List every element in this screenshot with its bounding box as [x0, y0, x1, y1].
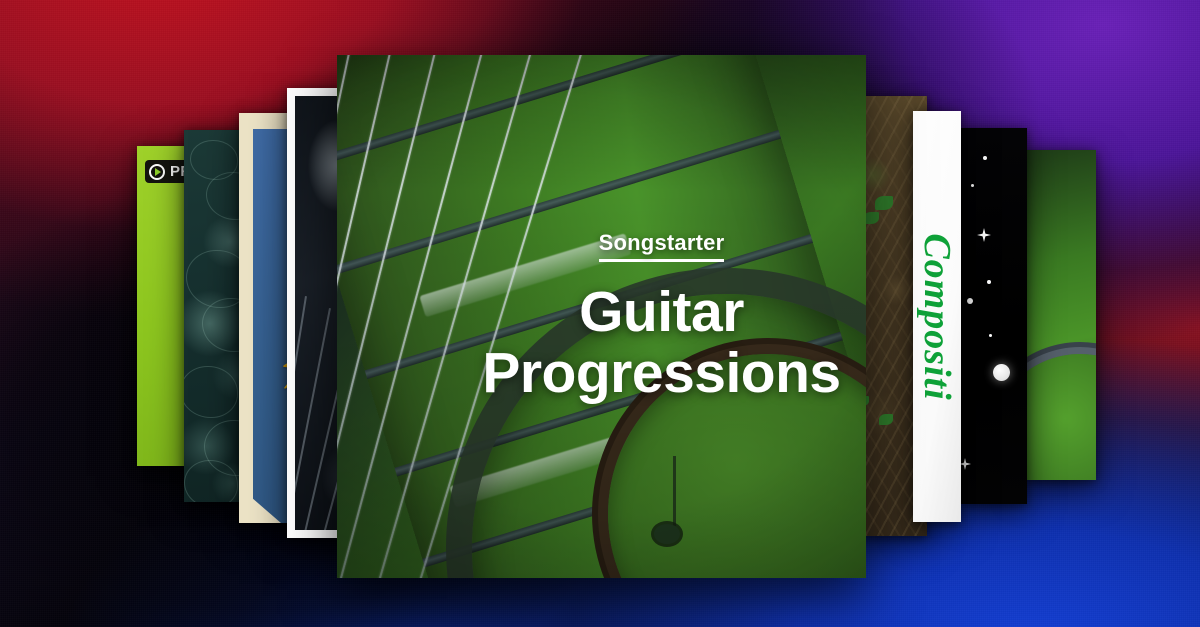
play-icon [149, 164, 165, 180]
star-icon [971, 184, 974, 187]
composting-label: Compositi [915, 233, 959, 400]
moon-icon [993, 364, 1010, 381]
screenshot-stage: PRO ⚡ [0, 0, 1200, 627]
succulent-leaf [184, 460, 238, 502]
star-icon [977, 228, 991, 242]
star-icon [989, 334, 992, 337]
hero-card[interactable]: Songstarter Guitar Progressions [337, 55, 866, 578]
guitar-soundhole-icon [1024, 354, 1096, 480]
star-icon [967, 298, 973, 304]
star-icon [987, 280, 991, 284]
succulent-leaf [184, 366, 238, 418]
hero-eyebrow: Songstarter [599, 230, 725, 262]
star-icon [983, 156, 987, 160]
guitar-string-line [295, 296, 307, 530]
composting-title-card[interactable]: Compositi [913, 111, 961, 522]
sprout-icon [875, 196, 893, 210]
green-guitar-card[interactable] [1024, 150, 1096, 480]
star-icon [961, 458, 971, 470]
hero-title-line2: Progressions [482, 343, 840, 404]
starry-night-card[interactable] [961, 128, 1027, 504]
hero-text-block: Songstarter Guitar Progressions [337, 55, 866, 578]
hero-title-line1: Guitar [579, 282, 744, 343]
sprout-icon [879, 414, 893, 425]
